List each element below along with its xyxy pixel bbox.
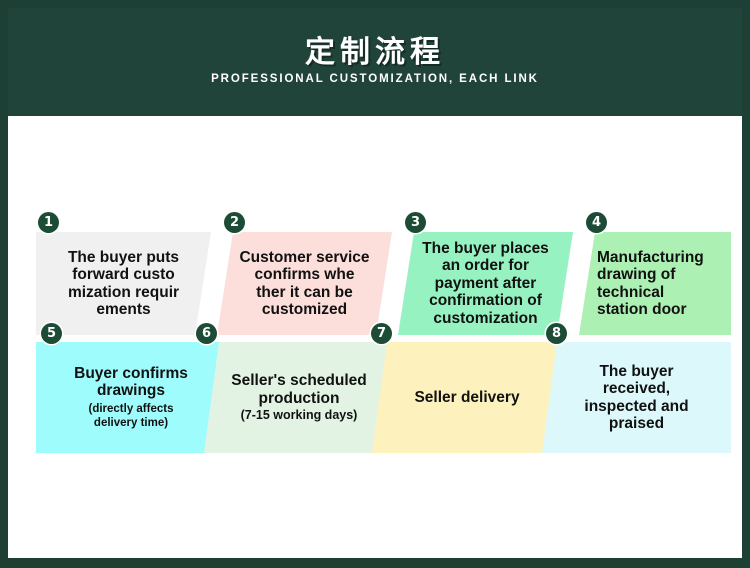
step-2-line-4: customized [262, 301, 347, 319]
step-8-text: The buyer received, inspected and praise… [542, 342, 731, 453]
frame-border-right [742, 0, 750, 568]
flow-step-6: Seller's scheduled production (7-15 work… [204, 342, 394, 453]
flow-steps-area: The buyer puts forward custo mization re… [8, 116, 742, 558]
step-3-line-3: payment after [435, 275, 537, 293]
step-2-line-1: Customer service [239, 249, 369, 267]
step-8-line-2: received, [603, 380, 670, 398]
step-8-number-badge: 8 [546, 323, 567, 344]
step-8-line-3: inspected and [584, 398, 688, 416]
step-6-number-badge: 6 [196, 323, 217, 344]
step-3-number-badge: 3 [405, 212, 426, 233]
flow-step-1: The buyer puts forward custo mization re… [36, 232, 211, 335]
step-1-line-3: mization requir [68, 284, 179, 302]
step-6-sub-1: (7-15 working days) [241, 408, 358, 422]
frame-border-bottom [0, 558, 750, 568]
step-4-text: Manufacturing drawing of technical stati… [579, 232, 731, 335]
step-1-line-1: The buyer puts [68, 249, 179, 267]
step-6-line-2: production [259, 390, 340, 408]
step-1-text: The buyer puts forward custo mization re… [36, 232, 211, 335]
step-2-line-2: confirms whe [255, 266, 355, 284]
step-1-line-4: ements [96, 301, 150, 319]
step-5-line-1: Buyer confirms [74, 365, 188, 383]
step-3-text: The buyer places an order for payment af… [398, 232, 573, 335]
step-2-line-3: ther it can be [256, 284, 352, 302]
flow-step-2: Customer service confirms whe ther it ca… [217, 232, 392, 335]
step-5-note-1: (directly affects [88, 402, 173, 416]
frame-border-top [0, 0, 750, 8]
step-5-text: Buyer confirms drawings (directly affect… [36, 342, 226, 453]
step-7-text: Seller delivery [372, 342, 562, 453]
step-7-line-1: Seller delivery [414, 389, 519, 407]
page-subtitle: PROFESSIONAL CUSTOMIZATION, EACH LINK [211, 74, 539, 86]
step-4-line-3: technical [597, 284, 664, 302]
step-4-line-2: drawing of [597, 266, 675, 284]
step-1-number-badge: 1 [38, 212, 59, 233]
step-5-line-2: drawings [97, 382, 165, 400]
flow-step-3: The buyer places an order for payment af… [398, 232, 573, 335]
step-6-line-1: Seller's scheduled [231, 372, 367, 390]
step-3-line-1: The buyer places [422, 240, 549, 258]
step-1-line-2: forward custo [72, 266, 174, 284]
page-title: 定制流程 [305, 38, 445, 68]
step-3-line-2: an order for [442, 257, 529, 275]
step-5-number-badge: 5 [41, 323, 62, 344]
step-6-text: Seller's scheduled production (7-15 work… [204, 342, 394, 453]
step-4-number-badge: 4 [586, 212, 607, 233]
header-banner: 定制流程 PROFESSIONAL CUSTOMIZATION, EACH LI… [8, 8, 742, 116]
frame-border-left [0, 0, 8, 568]
flow-step-8: The buyer received, inspected and praise… [542, 342, 731, 453]
flow-step-7: Seller delivery [372, 342, 562, 453]
step-3-line-4: confirmation of [429, 292, 542, 310]
step-2-text: Customer service confirms whe ther it ca… [217, 232, 392, 335]
step-8-line-4: praised [609, 415, 664, 433]
step-7-number-badge: 7 [371, 323, 392, 344]
step-5-note-2: delivery time) [94, 416, 168, 430]
step-8-line-1: The buyer [599, 363, 673, 381]
step-2-number-badge: 2 [224, 212, 245, 233]
customization-flow-infographic: 定制流程 PROFESSIONAL CUSTOMIZATION, EACH LI… [0, 0, 750, 568]
flow-step-4: Manufacturing drawing of technical stati… [579, 232, 731, 335]
flow-step-5: Buyer confirms drawings (directly affect… [36, 342, 226, 453]
step-3-line-5: customization [433, 310, 537, 328]
step-4-line-4: station door [597, 301, 687, 319]
step-4-line-1: Manufacturing [597, 249, 704, 267]
